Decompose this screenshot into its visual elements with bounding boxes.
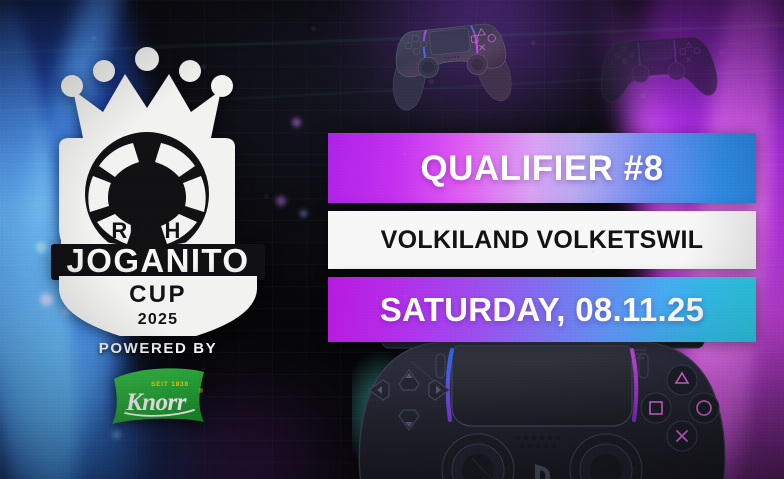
knorr-logo: SEIT 1838 Knorr ® bbox=[106, 364, 210, 426]
venue-bar: VOLKILAND VOLKETSWIL bbox=[328, 211, 756, 269]
qualifier-bar: QUALIFIER #8 bbox=[328, 133, 756, 203]
event-info-panel: QUALIFIER #8 VOLKILAND VOLKETSWIL SATURD… bbox=[328, 133, 756, 342]
knorr-tagline: SEIT 1838 bbox=[151, 381, 189, 388]
date-label: SATURDAY, 08.11.25 bbox=[328, 293, 756, 326]
powered-by-label: POWERED BY bbox=[99, 340, 218, 357]
venue-label: VOLKILAND VOLKETSWIL bbox=[328, 228, 756, 253]
crown-icon bbox=[61, 47, 233, 138]
crest-name-label: JOGANITO bbox=[67, 242, 250, 279]
tournament-logo-block: RUSH JOGANITO CUP 2025 POWERED BY bbox=[28, 46, 288, 426]
tournament-poster: QUALIFIER #8 VOLKILAND VOLKETSWIL SATURD… bbox=[0, 0, 784, 479]
knorr-wordmark: Knorr bbox=[125, 389, 187, 416]
crest-ribbon-label: RUSH bbox=[111, 218, 182, 243]
date-bar: SATURDAY, 08.11.25 bbox=[328, 277, 756, 342]
joganito-crest: RUSH JOGANITO bbox=[47, 46, 269, 296]
crest-cup-label: CUP bbox=[129, 281, 187, 308]
qualifier-label: QUALIFIER #8 bbox=[328, 151, 756, 186]
knorr-trademark: ® bbox=[199, 388, 204, 395]
crest-year-label: 2025 bbox=[138, 311, 178, 328]
